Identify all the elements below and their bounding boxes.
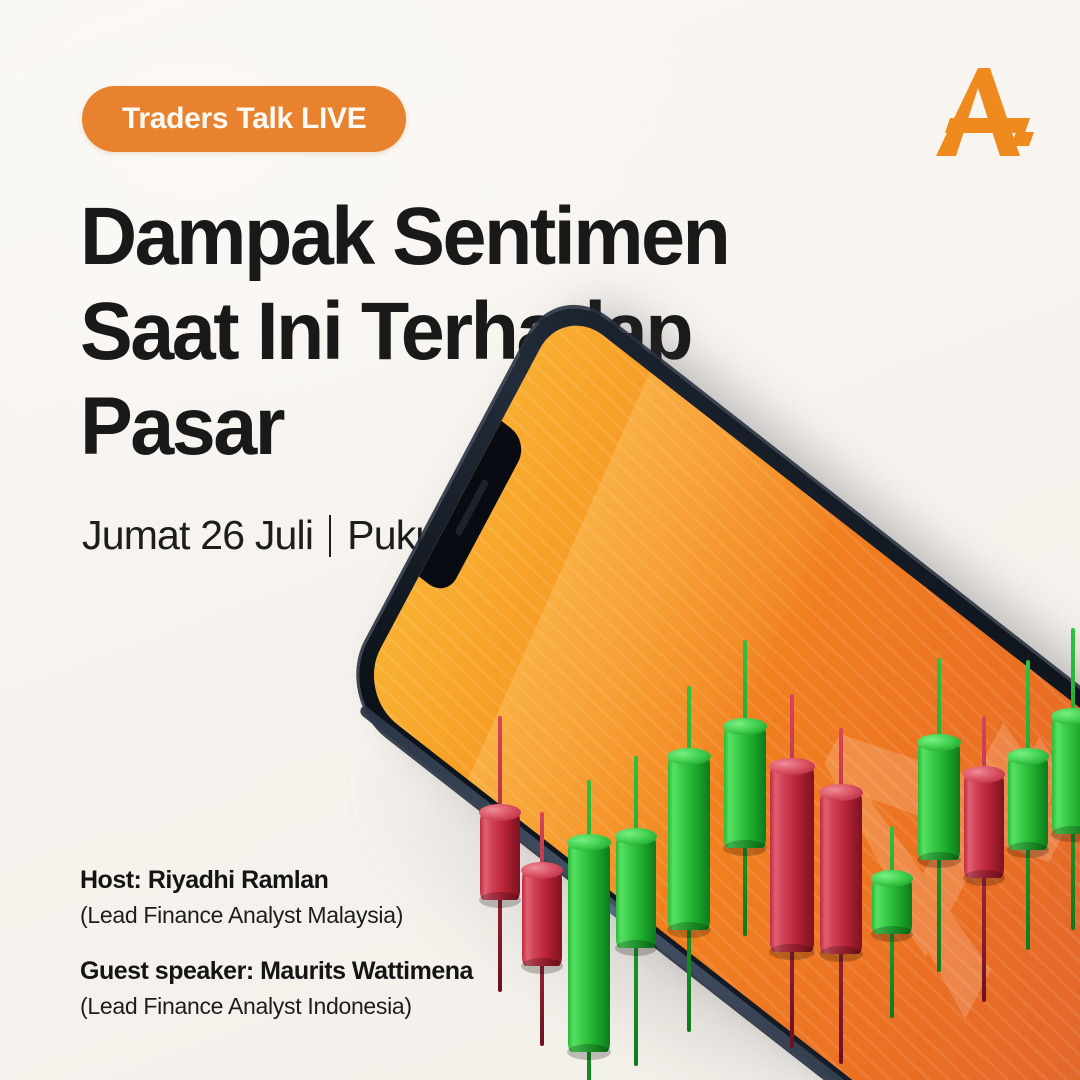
schedule-date: Jumat 26 Juli bbox=[82, 512, 313, 559]
speaker-credits: Host: Riyadhi Ramlan (Lead Finance Analy… bbox=[80, 866, 473, 1020]
schedule-separator bbox=[329, 515, 331, 557]
headline-line-2: Saat Ini Terhadap bbox=[80, 291, 842, 372]
credit-host-role: (Lead Finance Analyst Malaysia) bbox=[80, 902, 473, 929]
credit-host-name: Host: Riyadhi Ramlan bbox=[80, 866, 473, 895]
credit-guest-role: (Lead Finance Analyst Indonesia) bbox=[80, 993, 473, 1020]
headline-line-1: Dampak Sentimen bbox=[80, 196, 842, 277]
credit-guest: Guest speaker: Maurits Wattimena (Lead F… bbox=[80, 957, 473, 1020]
live-badge-label: Traders Talk LIVE bbox=[122, 102, 366, 136]
promo-poster: Traders Talk LIVE Dampak Sentimen Saat I… bbox=[0, 0, 1080, 1080]
brand-a-logo-icon bbox=[928, 60, 1036, 164]
candle-base-shade bbox=[567, 1044, 611, 1060]
credit-guest-name: Guest speaker: Maurits Wattimena bbox=[80, 957, 473, 986]
credit-host: Host: Riyadhi Ramlan (Lead Finance Analy… bbox=[80, 866, 473, 929]
live-badge[interactable]: Traders Talk LIVE bbox=[82, 86, 406, 152]
